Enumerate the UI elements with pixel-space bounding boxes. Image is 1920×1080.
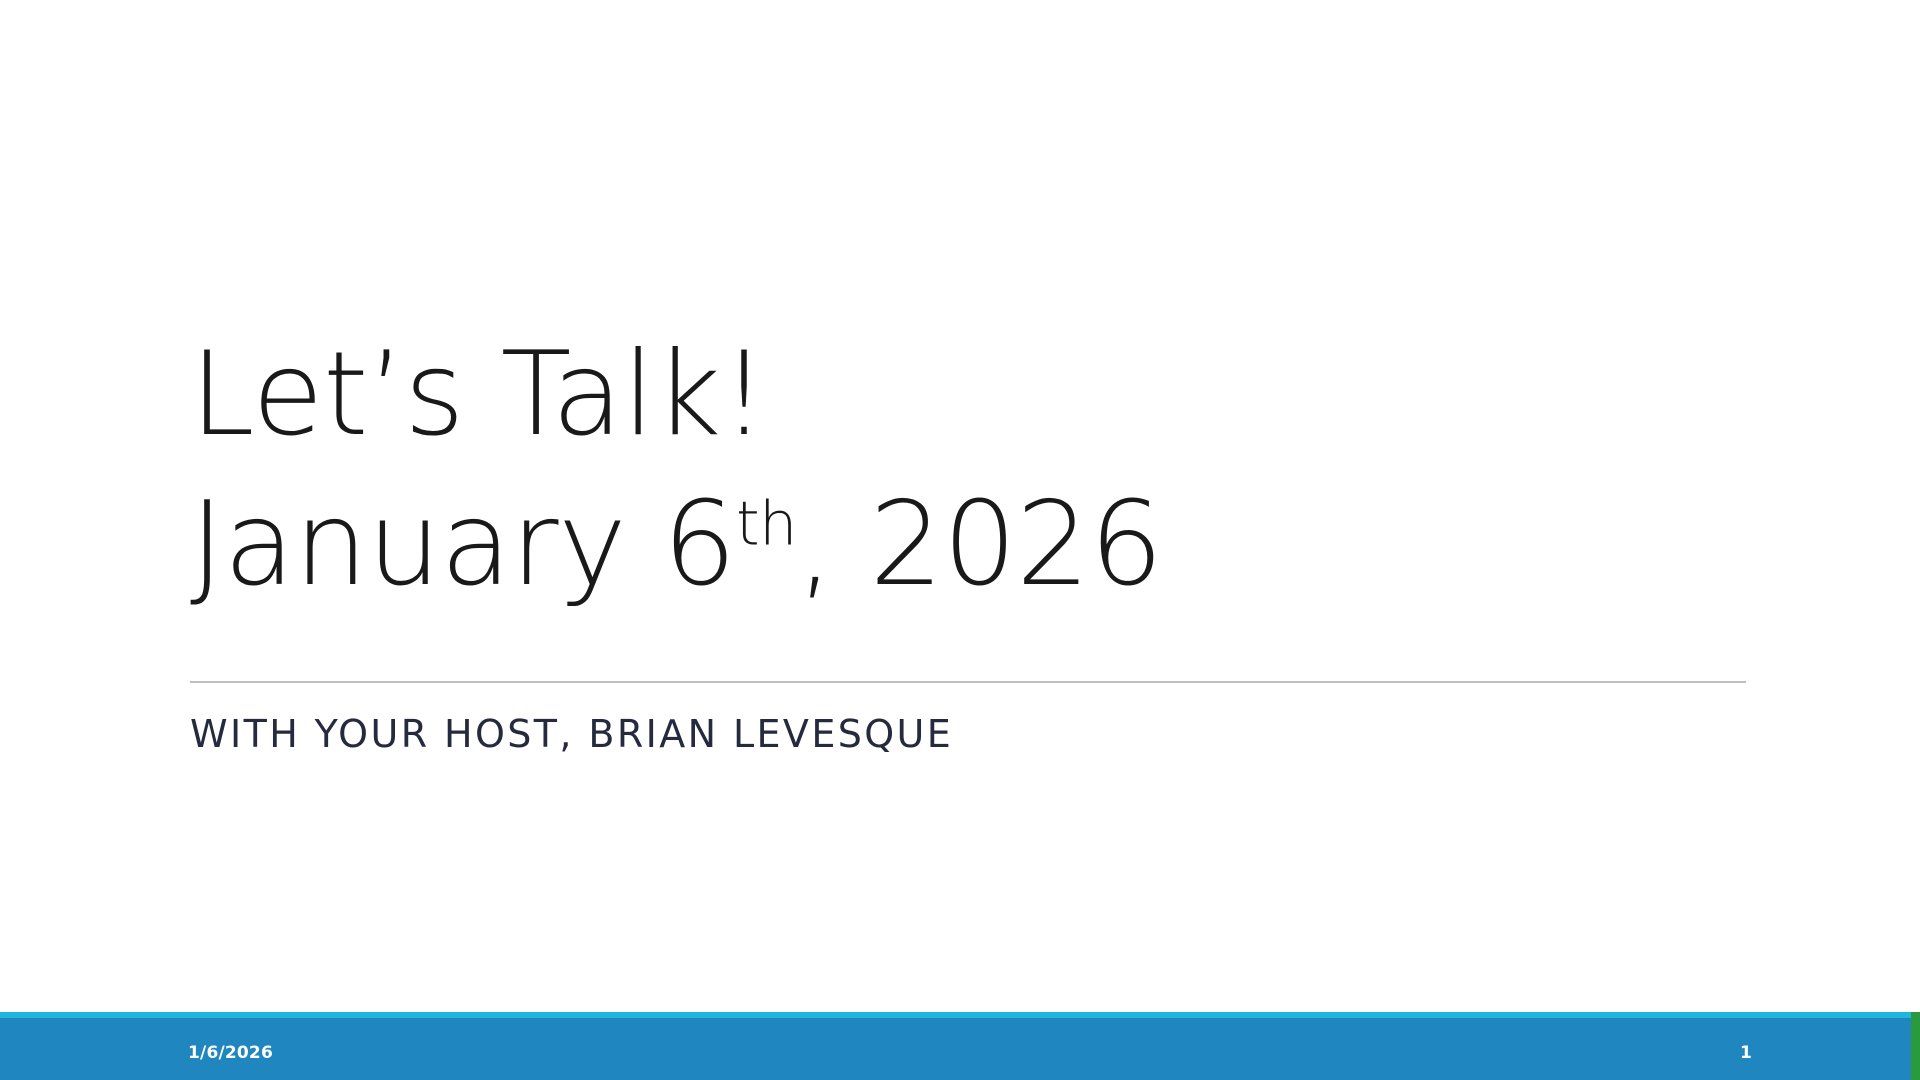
- footer-right-accent-strip: [1911, 1012, 1920, 1080]
- slide-title-block: Let’s Talk! January 6th, 2026: [190, 320, 1750, 619]
- slide-title-line-2: January 6th, 2026: [190, 470, 1750, 620]
- presentation-slide: Let’s Talk! January 6th, 2026 WITH YOUR …: [0, 0, 1920, 1080]
- title-divider-rule: [190, 681, 1746, 683]
- slide-title-date-prefix: January 6: [190, 477, 736, 612]
- slide-footer-bar: 1/6/2026 1: [0, 1012, 1920, 1080]
- slide-title-ordinal-suffix: th: [736, 489, 797, 559]
- footer-top-accent-strip: [0, 1012, 1920, 1018]
- slide-title-date-suffix: , 2026: [797, 477, 1163, 612]
- footer-date-text: 1/6/2026: [188, 1043, 273, 1063]
- footer-page-number: 1: [1740, 1043, 1752, 1063]
- slide-subtitle: WITH YOUR HOST, BRIAN LEVESQUE: [190, 712, 953, 756]
- slide-title-line-1: Let’s Talk!: [190, 320, 1750, 470]
